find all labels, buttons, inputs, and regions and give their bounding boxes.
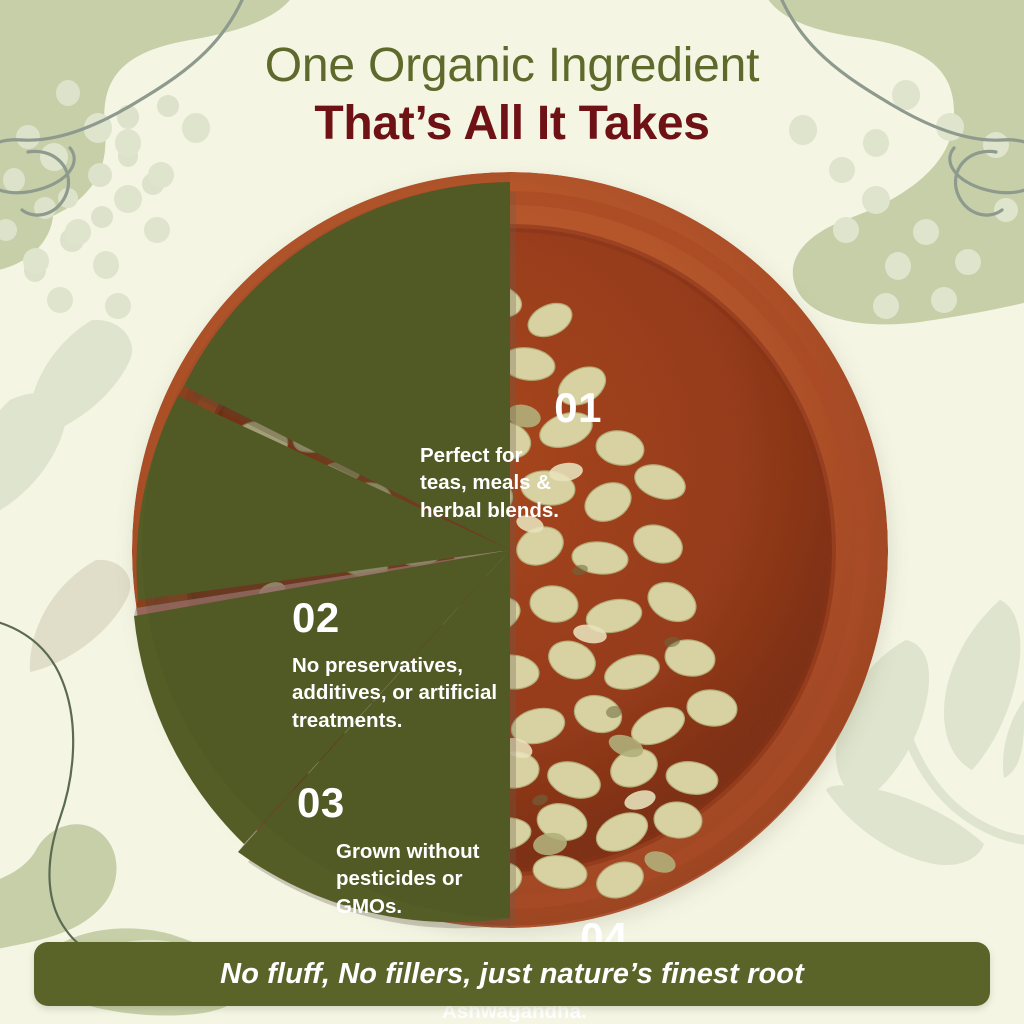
wedge-fan — [134, 182, 516, 928]
leaf-left-mid — [0, 393, 66, 518]
page-title: One Organic Ingredient That’s All It Tak… — [0, 40, 1024, 151]
curly-loop-top-right — [955, 151, 1002, 215]
title-line-1: One Organic Ingredient — [0, 40, 1024, 92]
tagline-banner: No fluff, No fillers, just nature’s fine… — [34, 942, 990, 1006]
leaf-left-upper — [28, 320, 132, 440]
title-line-2: That’s All It Takes — [0, 96, 1024, 151]
curly-loop-top-left — [22, 151, 69, 215]
infographic-canvas: One Organic Ingredient That’s All It Tak… — [0, 0, 1024, 1024]
leaf-left-lower — [30, 560, 130, 672]
blob-top-left-inner — [0, 146, 53, 272]
tagline-text: No fluff, No fillers, just nature’s fine… — [220, 958, 804, 991]
blob-bottom-left — [0, 824, 117, 956]
circular-composition: 01 Perfect for teas, meals & herbal blen… — [120, 172, 900, 928]
stem-line-bottom-left — [0, 617, 118, 958]
